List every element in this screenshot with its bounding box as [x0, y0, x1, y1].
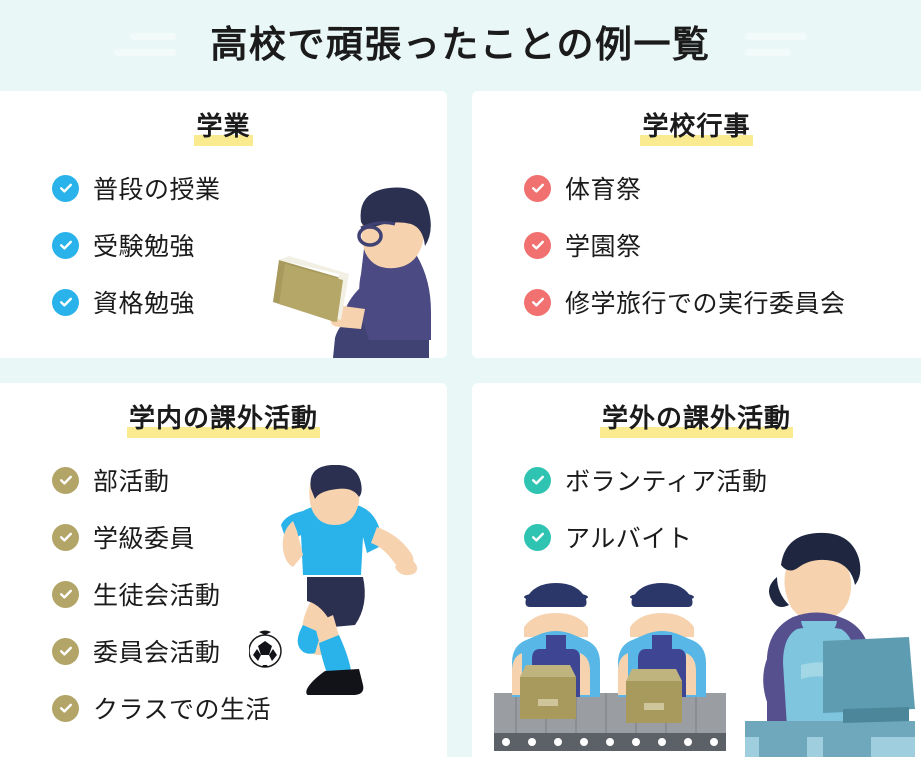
list-item: 部活動	[52, 452, 447, 509]
title-decoration-left-icon	[114, 33, 176, 56]
card-school-events: 学校行事 体育祭 学園祭	[472, 91, 921, 358]
check-circle-icon	[52, 638, 79, 665]
card-academics: 学業 普段の授業 受験勉強	[0, 91, 447, 358]
list-item: 修学旅行での実行委員会	[524, 274, 921, 331]
list-item-label: 資格勉強	[93, 284, 195, 320]
list-item-label: 学級委員	[93, 519, 195, 555]
list-item-label: 学園祭	[565, 227, 642, 263]
list-item: 普段の授業	[52, 160, 447, 217]
list-item-label: アルバイト	[565, 519, 692, 555]
card-item-list: 普段の授業 受験勉強 資格勉強	[0, 160, 447, 331]
list-item-label: 修学旅行での実行委員会	[565, 284, 846, 320]
card-header: 学業	[0, 91, 447, 146]
card-title: 学業	[194, 113, 252, 146]
check-circle-icon	[524, 232, 551, 259]
card-item-list: 体育祭 学園祭 修学旅行での実行委員会	[472, 160, 921, 331]
list-item: 体育祭	[524, 160, 921, 217]
check-circle-icon	[52, 289, 79, 316]
list-item-label: 委員会活動	[93, 633, 221, 669]
list-item: アルバイト	[524, 509, 921, 566]
list-item-label: 生徒会活動	[93, 576, 221, 612]
list-item: 生徒会活動	[52, 566, 447, 623]
list-item-label: 普段の授業	[93, 170, 221, 206]
page-title: 高校で頑張ったことの例一覧	[210, 26, 710, 63]
card-header: 学外の課外活動	[472, 383, 921, 438]
check-circle-icon	[524, 467, 551, 494]
card-out-of-school-extracurricular: 学外の課外活動 ボランティア活動 アルバイト	[472, 383, 921, 757]
list-item: 受験勉強	[52, 217, 447, 274]
list-item: 学園祭	[524, 217, 921, 274]
title-decoration-right-icon	[745, 33, 807, 56]
card-title: 学外の課外活動	[600, 405, 793, 438]
list-item-label: 受験勉強	[93, 227, 195, 263]
check-circle-icon	[524, 175, 551, 202]
cards-grid: 学業 普段の授業 受験勉強	[0, 91, 921, 757]
list-item: 資格勉強	[52, 274, 447, 331]
card-title: 学内の課外活動	[127, 405, 320, 438]
warehouse-workers-illustration	[494, 577, 726, 757]
list-item: クラスでの生活	[52, 680, 447, 737]
card-item-list: ボランティア活動 アルバイト	[472, 452, 921, 566]
card-header: 学内の課外活動	[0, 383, 447, 438]
list-item: ボランティア活動	[524, 452, 921, 509]
page-header: 高校で頑張ったことの例一覧	[0, 0, 921, 88]
check-circle-icon	[52, 232, 79, 259]
list-item: 学級委員	[52, 509, 447, 566]
list-item-label: 部活動	[93, 462, 170, 498]
list-item-label: ボランティア活動	[565, 462, 768, 498]
card-title: 学校行事	[640, 113, 752, 146]
check-circle-icon	[52, 175, 79, 202]
check-circle-icon	[52, 695, 79, 722]
check-circle-icon	[52, 467, 79, 494]
check-circle-icon	[524, 524, 551, 551]
infographic-page: 高校で頑張ったことの例一覧 学業 普段の授業	[0, 0, 921, 757]
list-item-label: 体育祭	[565, 170, 642, 206]
card-item-list: 部活動 学級委員 生徒会活動	[0, 452, 447, 737]
list-item: 委員会活動	[52, 623, 447, 680]
list-item-label: クラスでの生活	[93, 690, 271, 726]
card-in-school-extracurricular: 学内の課外活動 部活動 学級委員	[0, 383, 447, 757]
check-circle-icon	[524, 289, 551, 316]
check-circle-icon	[52, 524, 79, 551]
card-header: 学校行事	[472, 91, 921, 146]
check-circle-icon	[52, 581, 79, 608]
